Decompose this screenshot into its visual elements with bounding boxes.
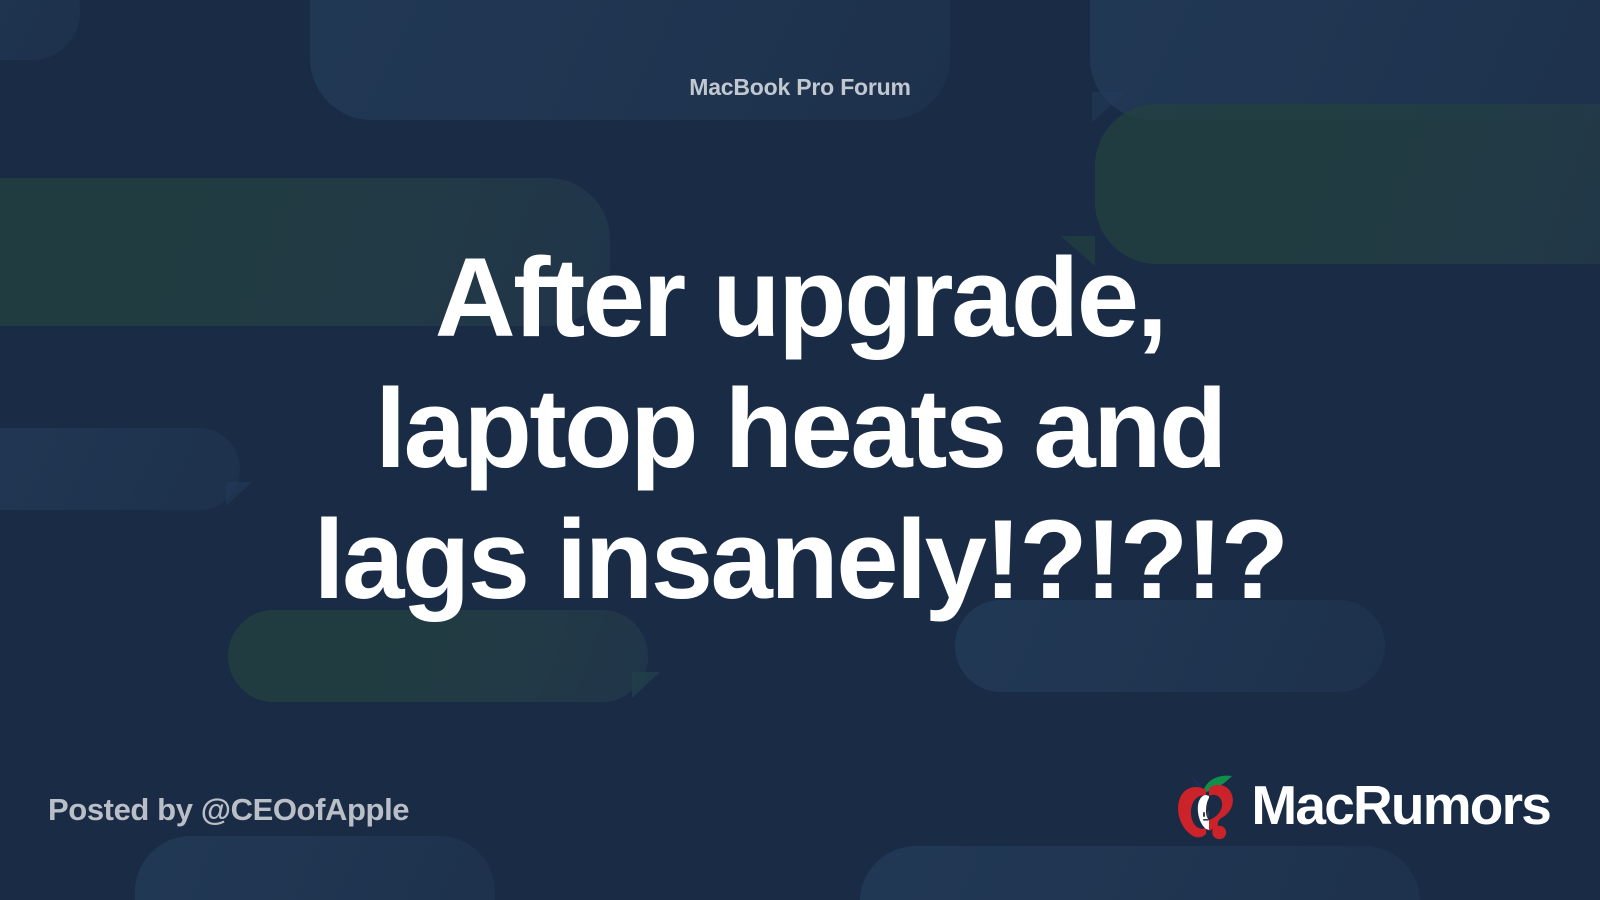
macrumors-apple-icon [1173,768,1245,842]
forum-label: MacBook Pro Forum [0,74,1600,101]
macrumors-logo[interactable]: MacRumors [1173,768,1550,842]
card-content: MacBook Pro Forum After upgrade, laptop … [0,0,1600,900]
page-title: After upgrade, laptop heats and lags ins… [70,232,1530,625]
macrumors-wordmark: MacRumors [1251,778,1550,833]
post-author-byline: Posted by @CEOofApple [48,792,409,828]
macrumors-share-card: MacBook Pro Forum After upgrade, laptop … [0,0,1600,900]
